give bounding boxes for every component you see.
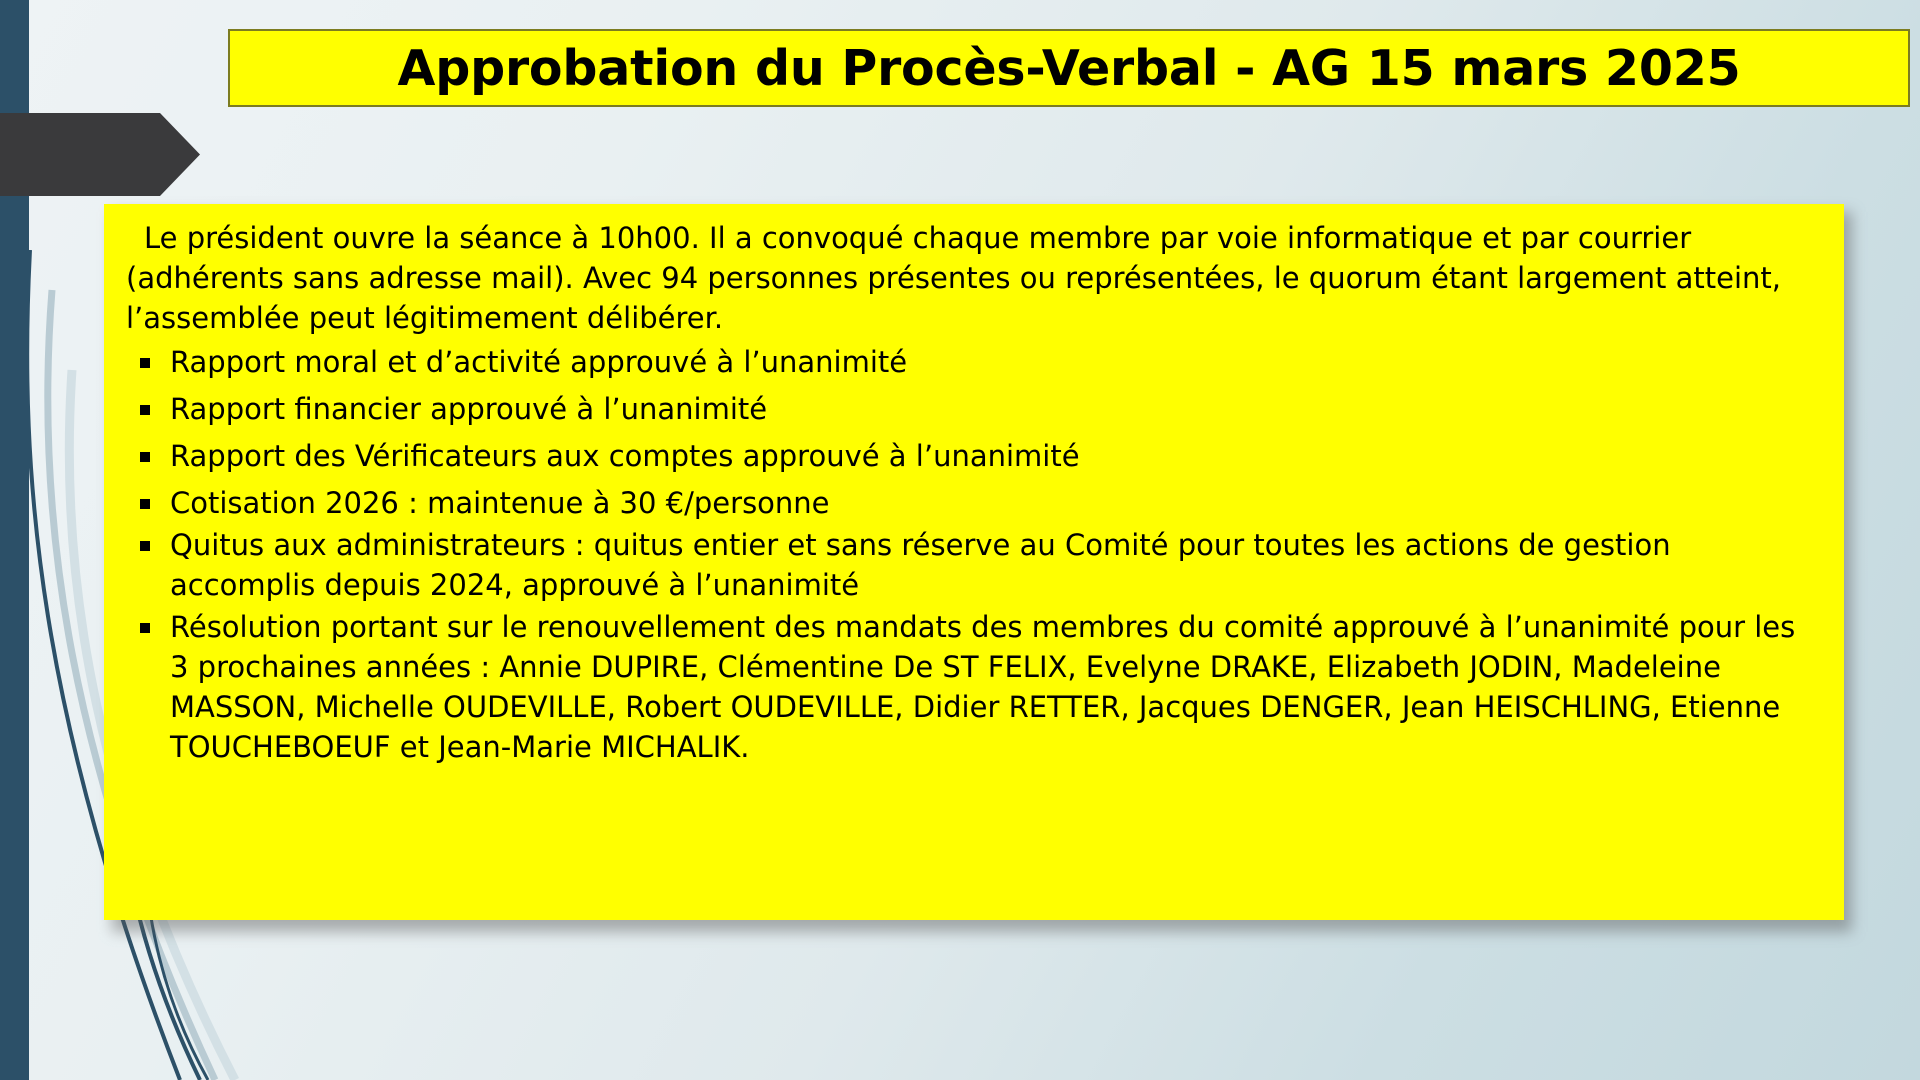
list-item: Rapport des Vérificateurs aux comptes ap… [126, 436, 1822, 476]
intro-paragraph: Le président ouvre la séance à 10h00. Il… [126, 218, 1822, 338]
list-item: Rapport moral et d’activité approuvé à l… [126, 342, 1822, 382]
content-box: Le président ouvre la séance à 10h00. Il… [104, 204, 1844, 920]
list-item: Rapport financier approuvé à l’unanimité [126, 389, 1822, 429]
list-item: Résolution portant sur le renouvellement… [126, 607, 1822, 767]
arrow-banner-shape [0, 113, 200, 196]
bullet-list: Rapport moral et d’activité approuvé à l… [126, 342, 1822, 767]
list-item: Cotisation 2026 : maintenue à 30 €/perso… [126, 483, 1822, 523]
slide-title-box: Approbation du Procès-Verbal - AG 15 mar… [228, 29, 1910, 107]
presentation-slide: Approbation du Procès-Verbal - AG 15 mar… [0, 0, 1920, 1080]
list-item: Quitus aux administrateurs : quitus enti… [126, 525, 1822, 605]
page-title: Approbation du Procès-Verbal - AG 15 mar… [397, 40, 1740, 97]
